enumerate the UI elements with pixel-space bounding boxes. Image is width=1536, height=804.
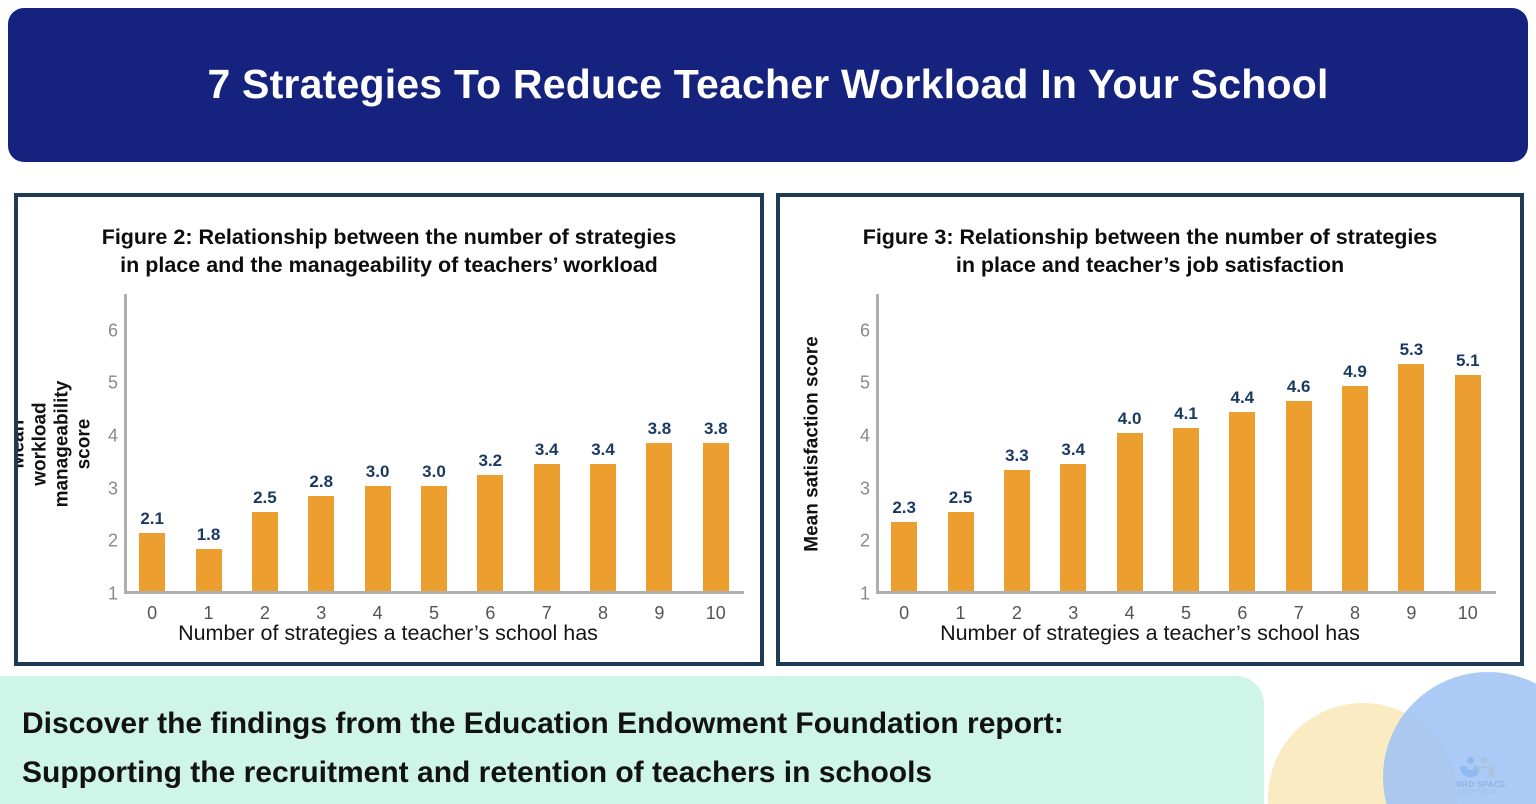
page-title: 7 Strategies To Reduce Teacher Workload … xyxy=(207,62,1328,107)
bar-value-label: 2.5 xyxy=(253,488,277,508)
bar xyxy=(646,443,672,590)
y-tick-label: 6 xyxy=(108,320,118,341)
bar-series-figure-3: 2.32.53.33.44.04.14.44.64.95.35.1 xyxy=(876,291,1496,591)
bar xyxy=(1173,428,1199,591)
bar-column: 5.3 xyxy=(1383,291,1439,591)
y-tick-label: 1 xyxy=(108,583,118,604)
bar xyxy=(1342,386,1368,591)
bar-value-label: 1.8 xyxy=(197,525,221,545)
x-axis-line-figure-2 xyxy=(124,591,744,594)
bar-value-label: 4.9 xyxy=(1343,362,1367,382)
chart-title-line-1: Figure 2: Relationship between the numbe… xyxy=(38,223,740,251)
bar xyxy=(703,443,729,590)
bar xyxy=(421,486,447,591)
bar-column: 3.8 xyxy=(688,291,744,591)
y-tick-label: 2 xyxy=(860,531,870,552)
bar-column: 4.1 xyxy=(1158,291,1214,591)
y-tick-label: 5 xyxy=(860,373,870,394)
x-axis-label-figure-3: Number of strategies a teacher’s school … xyxy=(830,621,1470,646)
y-axis-label-figure-3: Mean satisfaction score xyxy=(786,294,840,594)
y-tick-label: 1 xyxy=(860,583,870,604)
x-axis-label-figure-2: Number of strategies a teacher’s school … xyxy=(78,621,698,646)
bar xyxy=(891,522,917,590)
bar-value-label: 2.3 xyxy=(892,498,916,518)
chart-panel-figure-3: Figure 3: Relationship between the numbe… xyxy=(776,193,1524,666)
banner-line-1: Discover the findings from the Education… xyxy=(22,700,1264,749)
bar-value-label: 5.3 xyxy=(1400,340,1424,360)
y-axis-label-figure-2: Mean workload manageability score xyxy=(24,294,78,594)
bar-series-figure-2: 2.11.82.52.83.03.03.23.43.43.83.8 xyxy=(124,291,744,591)
bar-column: 3.4 xyxy=(519,291,575,591)
y-tick-label: 4 xyxy=(860,425,870,446)
bar-column: 2.5 xyxy=(237,291,293,591)
bar-value-label: 4.6 xyxy=(1287,377,1311,397)
bar xyxy=(252,512,278,591)
bar-column: 3.4 xyxy=(1045,291,1101,591)
y-axis-label-line-2: manageability score xyxy=(51,380,94,507)
y-tick-label: 3 xyxy=(860,478,870,499)
chart-title-figure-2: Figure 2: Relationship between the numbe… xyxy=(18,223,760,280)
bar-value-label: 3.4 xyxy=(1061,440,1085,460)
bar-value-label: 3.8 xyxy=(704,419,728,439)
bar-value-label: 3.8 xyxy=(648,419,672,439)
plot-area-figure-3: Mean satisfaction score 123456 2.32.53.3… xyxy=(780,294,1520,594)
infographic-root: 7 Strategies To Reduce Teacher Workload … xyxy=(0,0,1536,804)
y-tick-label: 6 xyxy=(860,320,870,341)
bar-value-label: 4.0 xyxy=(1118,409,1142,429)
bar xyxy=(1117,433,1143,591)
bar-column: 1.8 xyxy=(180,291,236,591)
bar-column: 4.0 xyxy=(1101,291,1157,591)
y-axis-label-text: Mean satisfaction score xyxy=(802,336,824,551)
bar-value-label: 3.2 xyxy=(479,451,503,471)
y-tick-label: 4 xyxy=(108,425,118,446)
bar xyxy=(196,549,222,591)
bar xyxy=(948,512,974,591)
y-axis-label-line-1: Mean workload xyxy=(14,402,50,485)
bar-column: 3.0 xyxy=(349,291,405,591)
bar-value-label: 3.4 xyxy=(535,440,559,460)
bar-value-label: 2.8 xyxy=(309,472,333,492)
bar xyxy=(1004,470,1030,591)
bar xyxy=(477,475,503,591)
chart-title-line-2: in place and teacher’s job satisfaction xyxy=(800,251,1500,279)
bar-value-label: 3.4 xyxy=(591,440,615,460)
banner-line-2: Supporting the recruitment and retention… xyxy=(22,749,1264,798)
decorative-circle-blue xyxy=(1383,672,1536,804)
chart-panel-figure-2: Figure 2: Relationship between the numbe… xyxy=(14,193,764,666)
bar-column: 4.4 xyxy=(1214,291,1270,591)
bar xyxy=(365,486,391,591)
bar-column: 5.1 xyxy=(1440,291,1496,591)
chart-title-line-2: in place and the manageability of teache… xyxy=(38,251,740,279)
bar-column: 2.5 xyxy=(932,291,988,591)
y-tick-label: 5 xyxy=(108,373,118,394)
bar-value-label: 3.3 xyxy=(1005,446,1029,466)
bar-value-label: 5.1 xyxy=(1456,351,1480,371)
bar-column: 2.1 xyxy=(124,291,180,591)
chart-title-line-1: Figure 3: Relationship between the numbe… xyxy=(800,223,1500,251)
bar xyxy=(1398,364,1424,590)
bar xyxy=(1229,412,1255,591)
y-tick-label: 2 xyxy=(108,531,118,552)
chart-title-figure-3: Figure 3: Relationship between the numbe… xyxy=(780,223,1520,280)
header-bar: 7 Strategies To Reduce Teacher Workload … xyxy=(8,8,1528,162)
bar-column: 4.6 xyxy=(1271,291,1327,591)
bar-column: 4.9 xyxy=(1327,291,1383,591)
x-axis-line-figure-3 xyxy=(876,591,1496,594)
bar-column: 3.3 xyxy=(989,291,1045,591)
bar-column: 3.2 xyxy=(462,291,518,591)
bottom-banner: Discover the findings from the Education… xyxy=(0,676,1264,804)
bar xyxy=(139,533,165,591)
y-tick-label: 3 xyxy=(108,478,118,499)
bar xyxy=(1060,464,1086,590)
bar xyxy=(534,464,560,590)
bar-value-label: 2.1 xyxy=(140,509,164,529)
bar-value-label: 3.0 xyxy=(366,462,390,482)
bar-column: 3.8 xyxy=(631,291,687,591)
y-axis-ticks-figure-3: 123456 xyxy=(844,294,874,594)
bar xyxy=(308,496,334,591)
bar-column: 3.0 xyxy=(406,291,462,591)
bar xyxy=(1286,401,1312,590)
bar xyxy=(590,464,616,590)
bar-value-label: 4.1 xyxy=(1174,404,1198,424)
bar-value-label: 4.4 xyxy=(1231,388,1255,408)
y-axis-ticks-figure-2: 123456 xyxy=(92,294,122,594)
bar-column: 2.3 xyxy=(876,291,932,591)
bar xyxy=(1455,375,1481,591)
bar-value-label: 3.0 xyxy=(422,462,446,482)
bar-value-label: 2.5 xyxy=(949,488,973,508)
plot-area-figure-2: Mean workload manageability score 123456… xyxy=(18,294,760,594)
bar-column: 2.8 xyxy=(293,291,349,591)
bar-column: 3.4 xyxy=(575,291,631,591)
